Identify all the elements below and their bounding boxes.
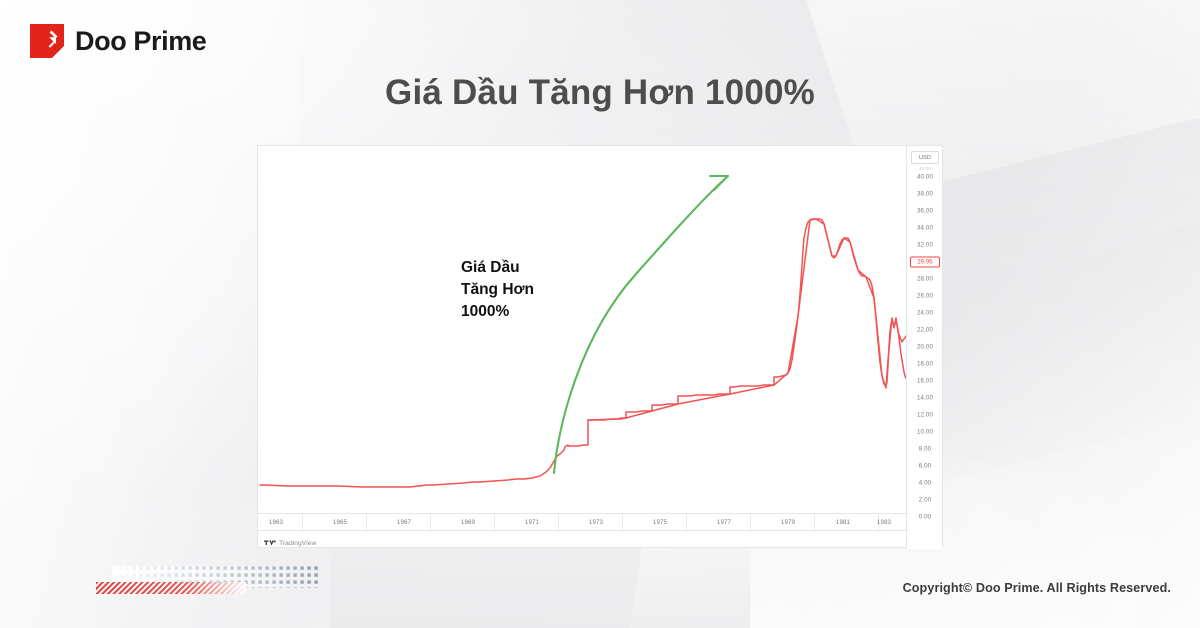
x-tick: 1975 <box>653 519 667 526</box>
y-tick: 18.00 <box>907 361 943 368</box>
y-tick: 28.00 <box>907 276 943 283</box>
time-separator <box>430 514 431 532</box>
y-tick: 22.00 <box>907 327 943 334</box>
time-separator <box>814 514 815 532</box>
y-tick: 0.00 <box>907 514 943 521</box>
time-separator <box>302 514 303 532</box>
y-tick: 4.00 <box>907 480 943 487</box>
y-tick: 24.00 <box>907 310 943 317</box>
chart-callout-text: Giá Dầu Tăng Hơn 1000% <box>461 257 534 323</box>
y-tick: 10.00 <box>907 429 943 436</box>
y-tick: 16.00 <box>907 378 943 385</box>
time-separator <box>750 514 751 532</box>
y-tick: 36.00 <box>907 208 943 215</box>
time-separator <box>622 514 623 532</box>
x-tick: 1967 <box>397 519 411 526</box>
x-tick: 1977 <box>717 519 731 526</box>
copyright-text: Copyright© Doo Prime. All Rights Reserve… <box>903 581 1171 595</box>
price-line-series <box>260 219 907 487</box>
y-tick: 14.00 <box>907 395 943 402</box>
time-separator <box>366 514 367 532</box>
stripe-bar-decoration <box>96 582 246 594</box>
footer-decoration <box>96 565 336 601</box>
y-tick: 34.00 <box>907 225 943 232</box>
brand-name: Doo Prime <box>75 26 206 57</box>
last-price-badge[interactable]: 29.95 <box>910 257 940 268</box>
x-tick: 1969 <box>461 519 475 526</box>
tradingview-label: TradingView <box>279 540 316 547</box>
time-separator <box>494 514 495 532</box>
x-tick: 1973 <box>589 519 603 526</box>
tradingview-attribution[interactable]: TradingView <box>264 534 316 552</box>
time-separator <box>686 514 687 532</box>
callout-line-2: Tăng Hơn <box>461 279 534 301</box>
x-tick: 1971 <box>525 519 539 526</box>
x-tick: 1983 <box>877 519 891 526</box>
price-line-chart <box>258 146 908 513</box>
callout-line-3: 1000% <box>461 301 534 323</box>
page-title: Giá Dầu Tăng Hơn 1000% <box>0 73 1200 113</box>
x-tick: 1981 <box>836 519 850 526</box>
time-scale-axis[interactable]: 1963 1965 1967 1969 1971 1973 1975 1977 … <box>258 513 908 531</box>
y-tick: 26.00 <box>907 293 943 300</box>
x-tick: 1965 <box>333 519 347 526</box>
y-tick: 2.00 <box>907 497 943 504</box>
y-tick: 12.00 <box>907 412 943 419</box>
y-tick: 6.00 <box>907 463 943 470</box>
price-scale-axis[interactable]: USD 42.00 40.00 38.00 36.00 34.00 32.00 … <box>906 146 942 549</box>
tradingview-logo-icon <box>264 534 276 552</box>
scale-sub-label: 42.00 <box>907 166 943 171</box>
currency-badge[interactable]: USD <box>911 151 939 164</box>
x-tick: 1979 <box>781 519 795 526</box>
doo-prime-logo-icon <box>30 24 64 58</box>
y-tick: 20.00 <box>907 344 943 351</box>
brand-logo[interactable]: Doo Prime <box>30 24 206 58</box>
x-tick: 1963 <box>269 519 283 526</box>
y-tick: 40.00 <box>907 174 943 181</box>
y-tick: 8.00 <box>907 446 943 453</box>
y-tick: 32.00 <box>907 242 943 249</box>
time-separator <box>558 514 559 532</box>
chart-panel: USD 42.00 40.00 38.00 36.00 34.00 32.00 … <box>257 145 943 548</box>
callout-line-1: Giá Dầu <box>461 257 534 279</box>
y-tick: 38.00 <box>907 191 943 198</box>
chart-plot-area <box>258 146 908 513</box>
